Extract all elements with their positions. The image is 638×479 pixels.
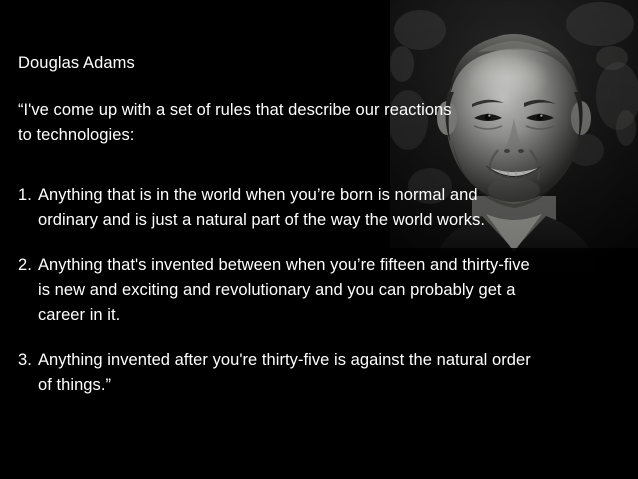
- rule-text: Anything that is in the world when you’r…: [38, 183, 538, 233]
- rule-marker: 1.: [18, 183, 36, 208]
- rule-marker: 3.: [18, 348, 36, 373]
- slide-text-layer: Douglas Adams “I've come up with a set o…: [0, 0, 638, 479]
- rule-text: Anything that's invented between when yo…: [38, 253, 538, 328]
- rules-list: 1. Anything that is in the world when yo…: [18, 183, 538, 398]
- quote-intro: “I've come up with a set of rules that d…: [18, 98, 458, 148]
- speaker-name: Douglas Adams: [18, 53, 135, 74]
- rule-item: 2. Anything that's invented between when…: [18, 253, 538, 328]
- presentation-slide: Douglas Adams “I've come up with a set o…: [0, 0, 638, 479]
- rule-text: Anything invented after you're thirty-fi…: [38, 348, 538, 398]
- rule-item: 3. Anything invented after you're thirty…: [18, 348, 538, 398]
- rule-marker: 2.: [18, 253, 36, 278]
- rule-item: 1. Anything that is in the world when yo…: [18, 183, 538, 233]
